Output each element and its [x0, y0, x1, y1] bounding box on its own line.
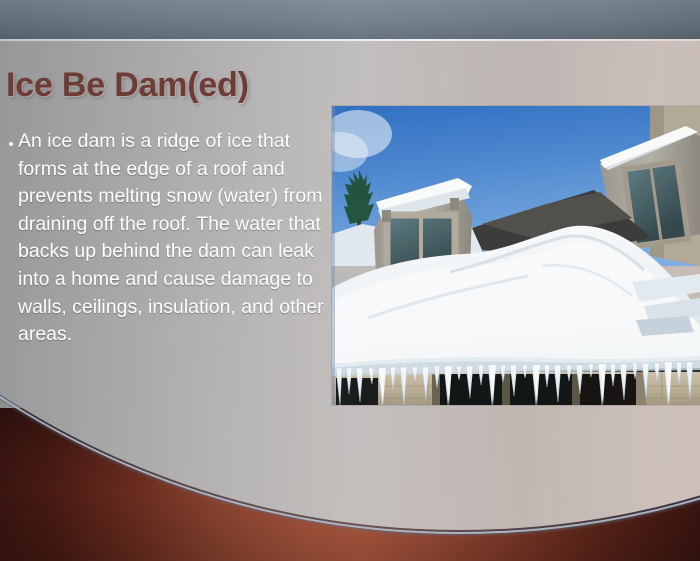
slide-body: • An ice dam is a ridge of ice that form… — [4, 128, 330, 349]
slide-photo-ice-dam — [332, 106, 700, 405]
slide-title: Ice Be Dam(ed) — [6, 66, 249, 105]
bullet-point-icon: • — [4, 137, 18, 152]
bullet-list-item: • An ice dam is a ridge of ice that form… — [4, 128, 330, 349]
ice-dam-photo-graphic — [332, 106, 700, 405]
bullet-text: An ice dam is a ridge of ice that forms … — [18, 128, 330, 349]
slide-header-band-sheen — [0, 0, 700, 39]
slide-header-band-edge — [0, 39, 700, 41]
presentation-slide: Ice Be Dam(ed) • An ice dam is a ridge o… — [0, 0, 700, 561]
